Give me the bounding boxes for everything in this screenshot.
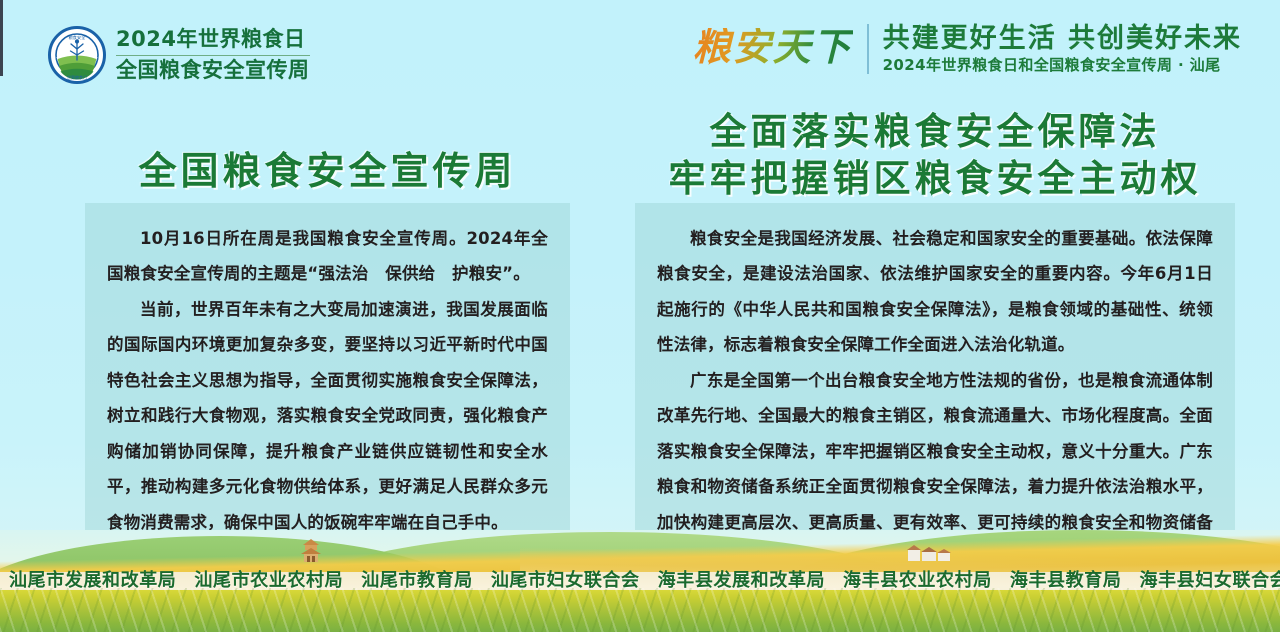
right-column-title: 全面落实粮食安全保障法 牢牢把握销区粮食安全主动权 — [635, 108, 1235, 203]
calligraphy-liangantianxia: 粮安天下 — [693, 28, 853, 70]
logo-line-year: 2024年世界粮食日 — [116, 27, 310, 53]
left-paragraph-2: 当前，世界百年未有之大变局加速演进，我国发展面临的国际国内环境更加复杂多变，要坚… — [107, 292, 548, 540]
right-paragraph-1: 粮食安全是我国经济发展、社会稳定和国家安全的重要基础。依法保障粮食安全，是建设法… — [657, 221, 1213, 363]
right-title-line-2: 牢牢把握销区粮食安全主动权 — [635, 155, 1235, 202]
event-logo-lockup: 粮食安全 世界粮食日 2024年世界粮食日 全国粮食安全宣传周 — [48, 26, 310, 84]
poster-header: 粮食安全 世界粮食日 2024年世界粮食日 全国粮食安全宣传周 粮安天下 共建更… — [0, 0, 1280, 96]
footer-org-3: 汕尾市妇女联合会 — [491, 566, 640, 592]
header-vertical-divider — [867, 24, 869, 74]
footer-org-4: 海丰县发展和改革局 — [658, 566, 825, 592]
header-slogan-text: 共建更好生活 共创美好未来 2024年世界粮食日和全国粮食安全宣传周 · 汕尾 — [883, 24, 1242, 74]
logo-line-week: 全国粮食安全宣传周 — [116, 58, 310, 84]
svg-text:粮食安全: 粮食安全 — [69, 34, 87, 41]
scenery-grass-blades-texture — [0, 588, 1280, 632]
left-column-title: 全国粮食安全宣传周 — [85, 140, 570, 195]
svg-text:世界粮食日: 世界粮食日 — [67, 74, 87, 80]
footer-org-7: 海丰县妇女联合会 — [1139, 566, 1280, 592]
footer-org-5: 海丰县农业农村局 — [843, 566, 992, 592]
world-food-day-emblem-icon: 粮食安全 世界粮食日 — [48, 26, 106, 84]
right-text-panel: 粮食安全是我国经济发展、社会稳定和国家安全的重要基础。依法保障粮食安全，是建设法… — [635, 203, 1235, 533]
footer-org-6: 海丰县教育局 — [1010, 566, 1122, 592]
footer-org-1: 汕尾市农业农村局 — [194, 566, 343, 592]
left-text-panel: 10月16日所在周是我国粮食安全宣传周。2024年全国粮食安全宣传周的主题是“强… — [85, 203, 570, 533]
header-slogan-sub: 2024年世界粮食日和全国粮食安全宣传周 · 汕尾 — [883, 56, 1242, 74]
footer-org-0: 汕尾市发展和改革局 — [9, 566, 176, 592]
logo-divider-rule — [116, 55, 310, 56]
pagoda-icon — [296, 538, 326, 568]
poster-root: 粮食安全 世界粮食日 2024年世界粮食日 全国粮食安全宣传周 粮安天下 共建更… — [0, 0, 1280, 632]
header-slogan-lockup: 粮安天下 共建更好生活 共创美好未来 2024年世界粮食日和全国粮食安全宣传周 … — [693, 24, 1242, 74]
village-houses-icon — [906, 544, 952, 562]
right-title-line-1: 全面落实粮食安全保障法 — [635, 108, 1235, 155]
header-slogan-main: 共建更好生活 共创美好未来 — [883, 24, 1242, 54]
footer-org-2: 汕尾市教育局 — [361, 566, 473, 592]
event-logo-text: 2024年世界粮食日 全国粮食安全宣传周 — [116, 27, 310, 83]
left-paragraph-1: 10月16日所在周是我国粮食安全宣传周。2024年全国粮食安全宣传周的主题是“强… — [107, 221, 548, 292]
footer-organizations: 汕尾市发展和改革局汕尾市农业农村局汕尾市教育局汕尾市妇女联合会海丰县发展和改革局… — [0, 566, 1280, 592]
